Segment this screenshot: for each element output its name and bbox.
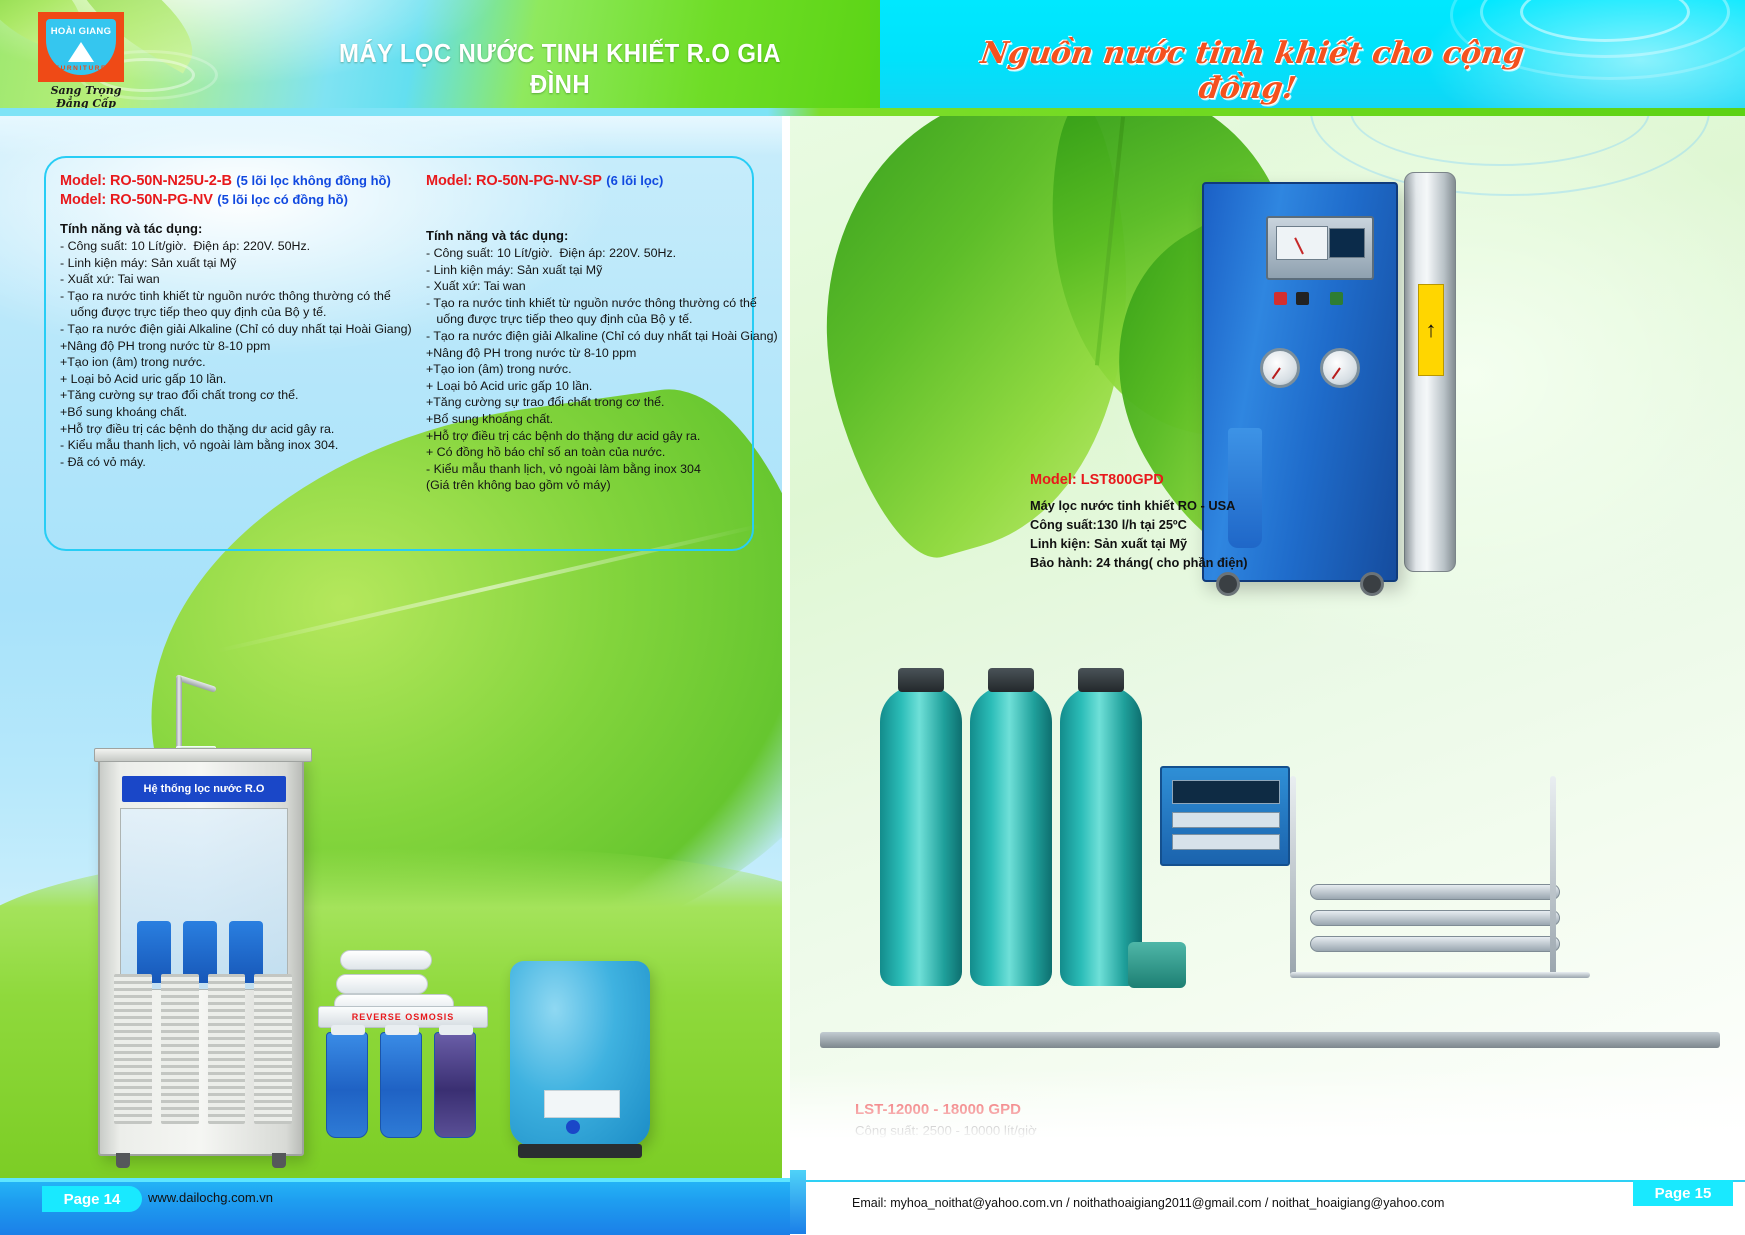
up-arrow-icon: ↑ (1418, 284, 1444, 376)
specs-column-a: Model: RO-50N-N25U-2-B (5 lõi lọc không … (60, 172, 420, 470)
model-line: Model: RO-50N-PG-NV-SP (6 lõi lọc) (426, 172, 756, 190)
control-cabinet (1160, 766, 1290, 866)
feature-item: - Công suất: 10 Lít/giờ. Điện áp: 220V. … (426, 245, 756, 262)
feature-item: +Hỗ trợ điều trị các bệnh do thặng dư ac… (426, 428, 756, 445)
tank-head (988, 668, 1034, 692)
product-ro-unit-image: REVERSE OSMOSIS (318, 946, 488, 1156)
feature-item: - Xuất xứ: Tai wan (426, 278, 756, 295)
vent (114, 974, 152, 1124)
tank-head (1078, 668, 1124, 692)
model-code: Model: RO-50N-PG-NV-SP (426, 173, 602, 189)
feature-item: + Loại bỏ Acid uric gấp 10 lần. (60, 371, 420, 388)
media-tank-icon (970, 686, 1052, 986)
lst800-spec: Linh kiện: Sản xuất tại Mỹ (1030, 534, 1360, 553)
pipe-icon (1290, 776, 1296, 976)
logo-mountain-icon (68, 42, 94, 62)
left-page: Model: RO-50N-N25U-2-B (5 lõi lọc không … (0, 116, 782, 1178)
feature-item: - Đã có vỏ máy. (60, 454, 420, 471)
feature-item: - Tạo ra nước tinh khiết từ nguồn nước t… (60, 288, 420, 305)
logo-box: HOÀI GIANG FURNITURE (38, 12, 124, 82)
media-tank-icon (880, 686, 962, 986)
high-pressure-pump-icon (1128, 942, 1186, 988)
page-title: MÁY LỌC NƯỚC TINH KHIẾT R.O GIA ĐÌNH (321, 38, 799, 100)
meter-needle-icon (1294, 237, 1304, 254)
lst800-spec: Bảo hành: 24 tháng( cho phần điện) (1030, 553, 1360, 572)
feature-item: + Loại bỏ Acid uric gấp 10 lần. (426, 378, 756, 395)
filter-housing-icon (380, 1032, 422, 1138)
page-number-right: Page 15 (1633, 1180, 1733, 1206)
feature-item: - Tạo ra nước điện giải Alkaline (Chỉ có… (426, 328, 756, 345)
caster-wheel-icon (1360, 572, 1384, 596)
digital-display (1172, 780, 1280, 804)
pressure-gauge-icon (1320, 348, 1360, 388)
lst800-caption: Model: LST800GPD Máy lọc nước tinh khiết… (1030, 472, 1360, 572)
page-number-left: Page 14 (42, 1186, 142, 1212)
sky-band (0, 116, 782, 156)
lst800-spec: Máy lọc nước tinh khiết RO - USA (1030, 496, 1360, 515)
company-logo: HOÀI GIANG FURNITURE Sang Trọng Đẳng Cấp (38, 12, 146, 104)
control-row (1172, 834, 1280, 850)
power-button-red[interactable] (1274, 292, 1287, 305)
pressure-gauge-icon (1260, 348, 1300, 388)
logo-shield-icon: HOÀI GIANG FURNITURE (46, 19, 116, 75)
model-code: Model: RO-50N-PG-NV (60, 192, 213, 208)
website-link[interactable]: www.dailochg.com.vn (148, 1190, 273, 1205)
digital-display (1329, 228, 1365, 258)
specs-card: Model: RO-50N-N25U-2-B (5 lõi lọc không … (44, 156, 754, 551)
ro-membrane-icon (1310, 884, 1560, 900)
lst800-spec: Công suất:130 l/h tại 25ºC (1030, 515, 1360, 534)
lst800-model: Model: LST800GPD (1030, 472, 1360, 488)
product-pressure-tank-image (510, 961, 650, 1146)
tank-head (898, 668, 944, 692)
header-divider (0, 108, 1745, 116)
cabinet-window (120, 808, 288, 990)
feature-item: +Tạo ion (âm) trong nước. (426, 361, 756, 378)
model-line: Model: RO-50N-N25U-2-B (5 lõi lọc không … (60, 172, 420, 190)
feature-item: - Xuất xứ: Tai wan (60, 271, 420, 288)
feature-item: +Tạo ion (âm) trong nước. (60, 354, 420, 371)
model-code: Model: RO-50N-N25U-2-B (60, 173, 232, 189)
control-row (1172, 812, 1280, 828)
brochure-page: HOÀI GIANG FURNITURE Sang Trọng Đẳng Cấp… (0, 0, 1745, 1235)
model-line: Model: RO-50N-PG-NV (5 lõi lọc có đồng h… (60, 191, 420, 209)
vent (161, 974, 199, 1124)
feature-item: +Tăng cường sự trao đổi chất trong cơ th… (426, 394, 756, 411)
analog-meter-icon (1276, 226, 1328, 260)
housing-cap (439, 1025, 473, 1035)
pipe-icon (1290, 972, 1590, 978)
feature-item: +Nâng độ PH trong nước từ 8-10 ppm (426, 345, 756, 362)
skid-frame (820, 1032, 1720, 1048)
specs-column-b: Model: RO-50N-PG-NV-SP (6 lõi lọc) Tính … (426, 172, 756, 494)
feature-item: uống được trực tiếp theo quy định của Bộ… (60, 304, 420, 321)
vent (254, 974, 292, 1124)
power-button-green[interactable] (1330, 292, 1343, 305)
filter-housing-icon (326, 1032, 368, 1138)
ro-skid (1120, 766, 1680, 996)
cabinet-banner-label: Hệ thống lọc nước R.O (122, 776, 286, 802)
model-note: (5 lõi lọc không đồng hồ) (236, 173, 391, 188)
ro-membrane-icon (1310, 936, 1560, 952)
feature-item: - Kiểu mẫu thanh lịch, vỏ ngoài làm bằng… (60, 437, 420, 454)
features-heading: Tính năng và tác dụng: (60, 221, 420, 236)
logo-sub-label: FURNITURE (46, 65, 116, 72)
vent (208, 974, 246, 1124)
footer-right: Email: myhoa_noithat@yahoo.com.vn / noit… (790, 1178, 1745, 1235)
product-lst12000-image (820, 656, 1720, 1056)
ro-membrane-icon (1310, 910, 1560, 926)
product-cabinet-image: Hệ thống lọc nước R.O (98, 756, 304, 1156)
model-note: (5 lõi lọc có đồng hồ) (217, 192, 348, 207)
logo-tagline: Sang Trọng Đẳng Cấp (34, 84, 138, 108)
feature-item: (Giá trên không bao gồm vỏ máy) (426, 477, 756, 494)
feature-item: +Tăng cường sự trao đổi chất trong cơ th… (60, 387, 420, 404)
page-header: HOÀI GIANG FURNITURE Sang Trọng Đẳng Cấp… (0, 0, 1745, 108)
caster-wheel-icon (1216, 572, 1240, 596)
feature-item: +Bổ sung khoáng chất. (60, 404, 420, 421)
feature-item: +Hỗ trợ điều trị các bệnh do thặng dư ac… (60, 421, 420, 438)
right-page: ↑ Model: LST800GPD Máy lọc nước tinh khi… (790, 116, 1745, 1178)
control-panel (1266, 216, 1374, 280)
pipe-icon (1550, 776, 1556, 976)
housing-cap (331, 1025, 365, 1035)
feature-item: - Kiểu mẫu thanh lịch, vỏ ngoài làm bằng… (426, 461, 756, 478)
page-footer: Page 14 www.dailochg.com.vn Email: myhoa… (0, 1178, 1745, 1235)
header-slogan: Nguồn nước tinh khiết cho cộng đồng! (935, 36, 1565, 106)
bottom-fade (790, 1068, 1745, 1178)
footer-side-accent (790, 1170, 806, 1234)
feature-item: - Tạo ra nước điện giải Alkaline (Chỉ có… (60, 321, 420, 338)
cabinet-leg (272, 1153, 286, 1168)
cabinet-top (94, 748, 312, 762)
email-addresses[interactable]: Email: myhoa_noithat@yahoo.com.vn / noit… (852, 1196, 1444, 1210)
feature-item: uống được trực tiếp theo quy định của Bộ… (426, 311, 756, 328)
feature-item: +Nâng độ PH trong nước từ 8-10 ppm (60, 338, 420, 355)
ro-membrane-icon (336, 974, 428, 994)
cabinet-vents (114, 974, 292, 1124)
ro-rack-label: REVERSE OSMOSIS (319, 1007, 487, 1027)
tank-label (544, 1090, 620, 1118)
tank-valve-icon (566, 1120, 580, 1134)
feature-item: - Linh kiện máy: Sản xuất tại Mỹ (426, 262, 756, 279)
cabinet-leg (116, 1153, 130, 1168)
tank-base (518, 1144, 642, 1158)
model-note: (6 lõi lọc) (606, 173, 663, 188)
ro-membrane-icon (340, 950, 432, 970)
footer-left: Page 14 www.dailochg.com.vn (0, 1178, 790, 1235)
filter-housing-icon (434, 1032, 476, 1138)
power-button-black[interactable] (1296, 292, 1309, 305)
feature-item: - Tạo ra nước tinh khiết từ nguồn nước t… (426, 295, 756, 312)
features-heading: Tính năng và tác dụng: (426, 228, 756, 243)
feature-item: + Có đồng hồ báo chỉ số an toàn của nước… (426, 444, 756, 461)
feature-item: - Linh kiện máy: Sản xuất tại Mỹ (60, 255, 420, 272)
housing-cap (385, 1025, 419, 1035)
feature-item: - Công suất: 10 Lít/giờ. Điện áp: 220V. … (60, 238, 420, 255)
feature-item: +Bổ sung khoáng chất. (426, 411, 756, 428)
logo-brand-name: HOÀI GIANG (51, 26, 112, 37)
